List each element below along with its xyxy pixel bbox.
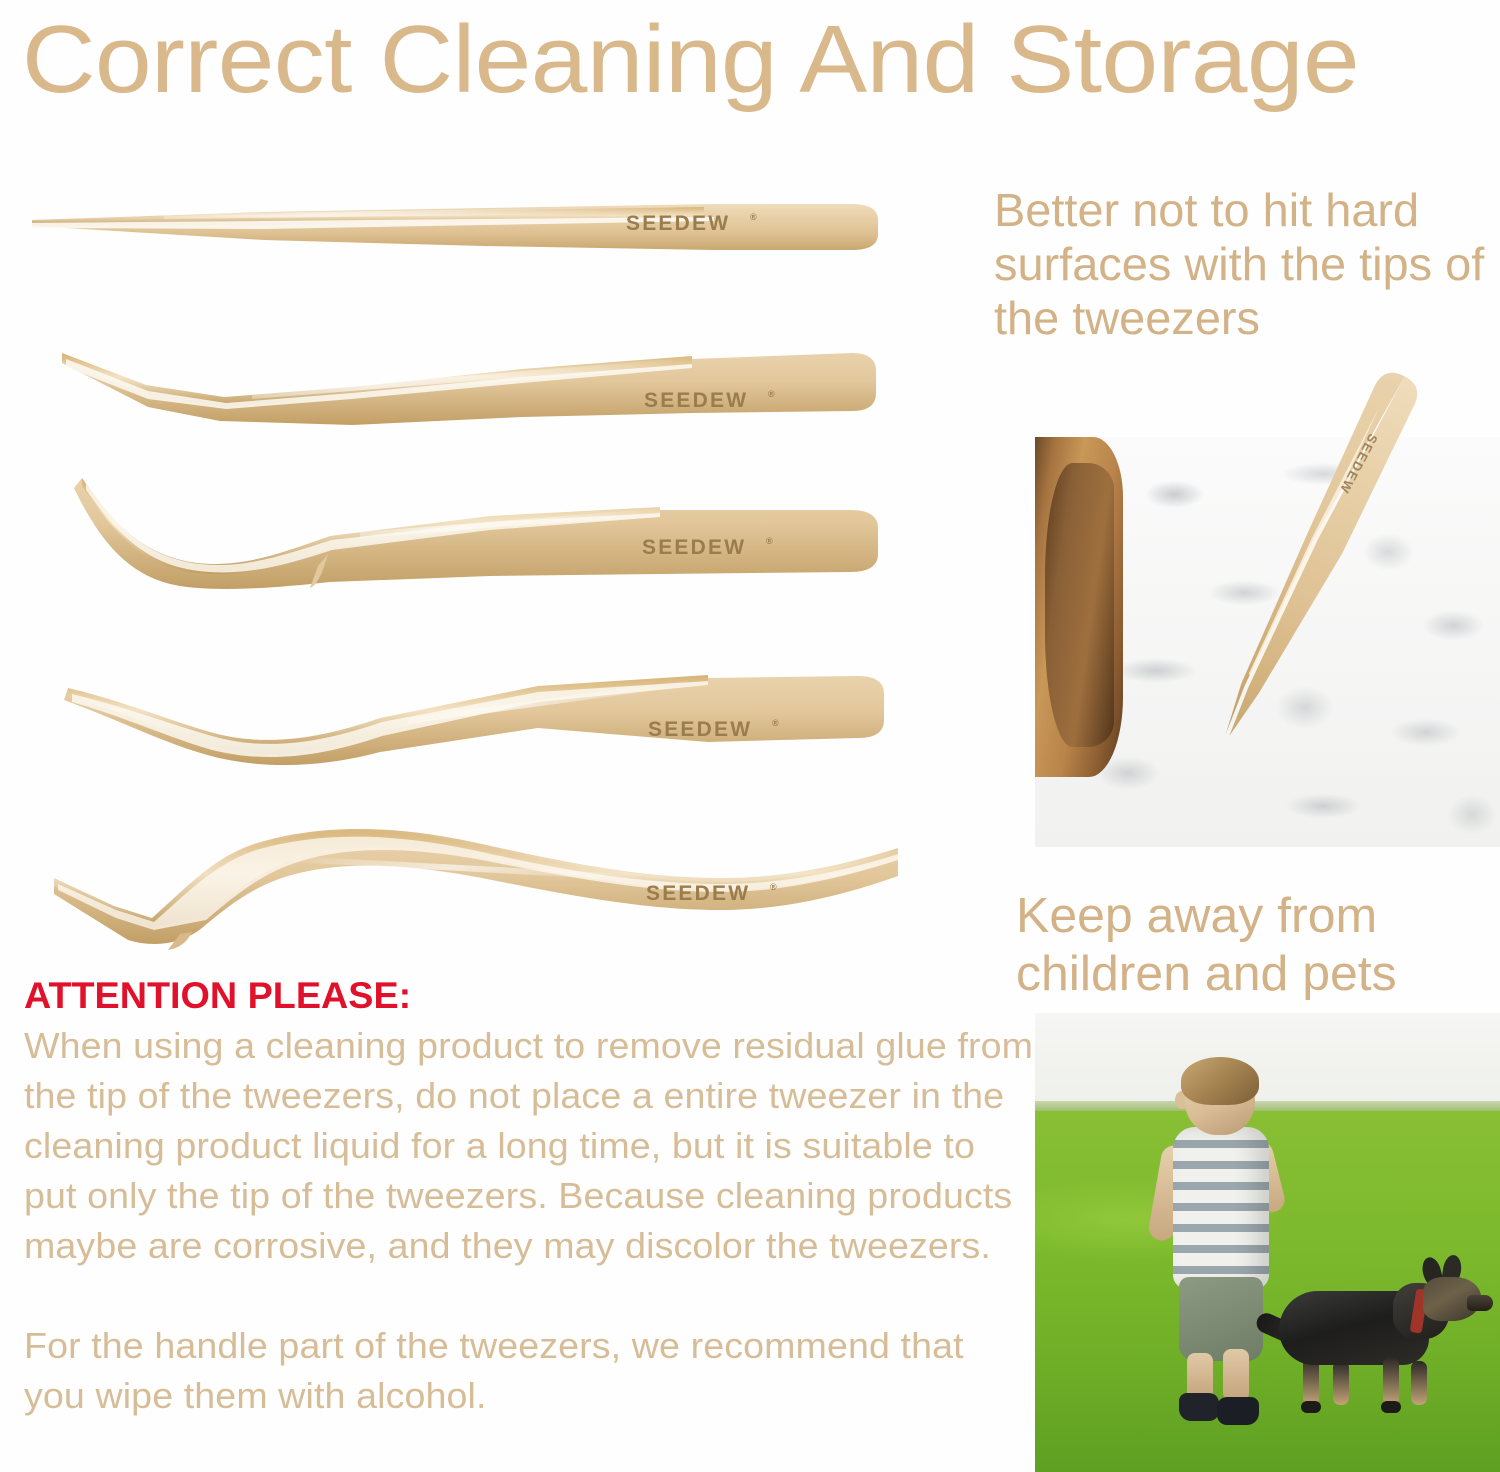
toddler-right-shoe — [1217, 1397, 1259, 1425]
toddler-striped-shirt — [1173, 1127, 1269, 1289]
dog-leg — [1411, 1361, 1427, 1405]
tweezer-brand-label: SEEDEW — [626, 212, 730, 235]
toddler-hair — [1181, 1057, 1259, 1105]
tweezer-straight-pointed: SEEDEW ® — [14, 190, 904, 270]
tweezer-trademark-symbol: ® — [750, 212, 757, 222]
tweezer-brand-label: SEEDEW — [648, 718, 752, 741]
german-shepherd-puppy — [1263, 1265, 1483, 1435]
toddler-shorts — [1179, 1277, 1263, 1361]
tweezer-angled-45: SEEDEW ® — [52, 335, 912, 445]
tweezer-brand-label: SEEDEW — [646, 882, 750, 905]
note-hit-hard-surfaces: Better not to hit hard surfaces with the… — [994, 183, 1500, 345]
tweezer-brand-label: SEEDEW — [644, 389, 748, 412]
dog-snout — [1467, 1295, 1493, 1311]
tweezer-trademark-symbol: ® — [766, 536, 773, 546]
note-keep-away: Keep away from children and pets — [1016, 887, 1500, 1003]
dog-paw — [1301, 1401, 1321, 1413]
tweezer-trademark-symbol: ® — [772, 718, 779, 728]
attention-paragraph-1: When using a cleaning product to remove … — [24, 1021, 1033, 1271]
tweezer-curved-long: SEEDEW ® — [58, 660, 918, 770]
attention-paragraph-2: For the handle part of the tweezers, we … — [24, 1321, 1033, 1421]
toddler-right-leg — [1223, 1349, 1249, 1401]
attention-heading: ATTENTION PLEASE: — [24, 975, 1024, 1017]
tweezer-brand-label: SEEDEW — [642, 536, 746, 559]
attention-block: ATTENTION PLEASE: When using a cleaning … — [24, 975, 1004, 1421]
tweezer-j-curve-hook: SEEDEW ® — [60, 470, 910, 605]
dog-paw — [1381, 1401, 1401, 1413]
photo-child-and-dog — [1035, 1013, 1500, 1472]
wooden-board — [1035, 437, 1123, 777]
dog-leg — [1333, 1361, 1349, 1405]
tweezer-s-curve-boot: SEEDEW ® — [42, 820, 922, 950]
tweezer-trademark-symbol: ® — [770, 882, 777, 892]
page-title: Correct Cleaning And Storage — [22, 8, 1500, 112]
toddler-left-shoe — [1179, 1393, 1219, 1421]
photo-marble-tweezer: SEEDEW — [1195, 352, 1435, 772]
tweezer-trademark-symbol: ® — [768, 389, 775, 399]
dog-leg — [1383, 1357, 1399, 1405]
tweezer-illustrations: SEEDEW ® SEEDEW ® SEEDEW ® — [0, 170, 950, 960]
